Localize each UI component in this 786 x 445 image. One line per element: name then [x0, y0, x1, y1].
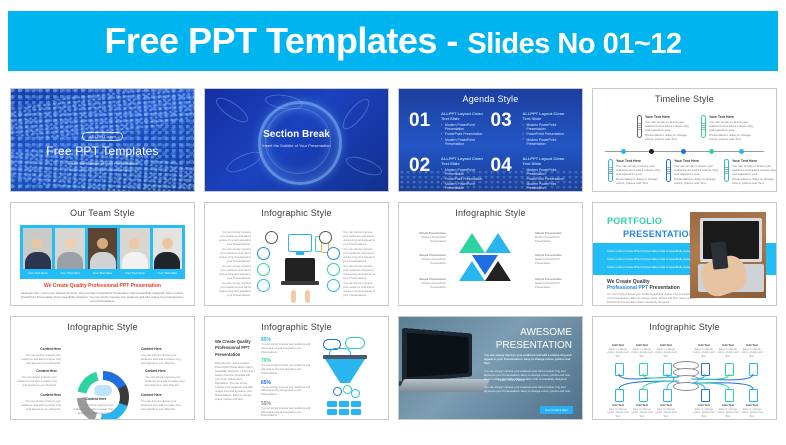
slide-5-title: Our Team Style	[11, 203, 194, 218]
timeline-card: Your Text HereYou can simply impress you…	[608, 159, 660, 185]
database-label: Add TextEasy to change colors, photos an…	[716, 403, 740, 419]
funnel-top-bar	[323, 355, 367, 359]
slide-thumbnail-2-section-break[interactable]: Section Break Insert the Subtitle of You…	[204, 88, 389, 192]
database-label-body: Easy to change colors, photos and Text.	[655, 408, 676, 419]
stat-body: You can simply impress your audience and…	[261, 407, 311, 418]
agenda-item: 01 ALLPPT Layout Clean Text Slide Modern…	[409, 111, 491, 147]
agenda-number: 03	[491, 111, 519, 147]
triangle-label-body: Modern PowerPoint Presentation	[535, 235, 560, 243]
timeline-card-heading: Your Text Here	[674, 159, 718, 163]
triangle-shape	[485, 233, 511, 253]
team-member: Your Text Here	[55, 228, 84, 276]
slide-thumbnail-3-agenda[interactable]: Agenda Style 01 ALLPPT Layout Clean Text…	[398, 88, 583, 192]
agenda-bullet: PowerPoint Presentation	[441, 177, 491, 181]
slide-11-heading-line-1: AWESOME	[520, 327, 572, 338]
server-icon	[339, 409, 349, 415]
banner-title: Free PPT Templates - Slides No 01~12	[104, 23, 681, 59]
donut-label: Content Here You can simply impress your…	[21, 393, 61, 411]
slide-thumbnail-7-infographic-triangles[interactable]: Infographic Style Simple Presentation Mo…	[398, 202, 583, 306]
target-icon	[327, 263, 340, 276]
agenda-bullet: Modern PowerPoint Presentation	[441, 182, 491, 190]
database-label-heading: Add Text	[716, 343, 740, 347]
agenda-bullet: Modern PowerPoint Presentation	[441, 168, 491, 176]
team-member-photo	[55, 228, 84, 269]
donut-center-label: Content Here You can simply impress your…	[73, 397, 119, 415]
device-side-text: You can simply impress your audience and…	[343, 230, 377, 246]
triangle-shape	[459, 261, 485, 281]
donut-label: Content Here You can simply impress your…	[21, 347, 61, 365]
donut-center-body: You can simply impress your audience and…	[73, 403, 118, 415]
agenda-item: 04 ALLPPT Layout Clean Text Slide Modern…	[491, 156, 573, 192]
stat-row: 70% You can simply impress your audience…	[261, 358, 311, 375]
timeline-pill-icon	[724, 159, 729, 182]
database-label: Add TextEasy to change colors, photos an…	[692, 403, 716, 419]
timeline-card-heading: Your Text Here	[616, 159, 660, 163]
database-label-heading: Add Text	[692, 343, 716, 347]
database-label: Add TextEasy to change colors, photos an…	[606, 403, 630, 419]
gear-icon	[351, 389, 360, 398]
agenda-number: 01	[409, 111, 437, 147]
strand-decoration	[212, 93, 251, 126]
donut-label-body: You can simply impress your audience and…	[17, 375, 57, 387]
funnel-left-body: Example text : Get a modern PowerPoint P…	[215, 362, 255, 402]
timeline-marker	[649, 149, 654, 154]
database-label-heading: Add Text	[606, 403, 630, 407]
slide-11-cta-button[interactable]: Your Content Here	[540, 406, 573, 414]
slide-2-subtitle: Insert the Subtitle of Your Presentation	[205, 143, 388, 148]
slide-11-body-1: You can simply impress your audience and…	[484, 353, 572, 366]
database-label-heading: Add Text	[654, 403, 678, 407]
agenda-item: 02 ALLPPT Layout Clean Text Slide Modern…	[409, 156, 491, 192]
database-label-body: Easy to change colors, photos and Text.	[717, 348, 738, 359]
agenda-heading: ALLPPT Layout Clean Text Slide	[441, 156, 491, 166]
funnel-left-heading: We Create Quality Professional PPT Prese…	[215, 339, 255, 358]
slide-thumbnail-9-infographic-donut[interactable]: Infographic Style Content Here You can s…	[10, 316, 195, 420]
header-banner: Free PPT Templates - Slides No 01~12	[8, 11, 778, 71]
database-label-body: Easy to change colors, photos and Text.	[607, 348, 628, 359]
timeline-marker	[709, 149, 714, 154]
ppt-template-preview-sheet: Free PPT Templates - Slides No 01~12 ALL…	[0, 0, 786, 445]
agenda-bullet: Modern PowerPoint Presentation	[523, 182, 573, 190]
database-label-heading: Add Text	[740, 343, 764, 347]
database-label-heading: Add Text	[630, 403, 654, 407]
funnel-left-column: We Create Quality Professional PPT Prese…	[215, 339, 255, 402]
slide-thumbnail-1-title[interactable]: ALLPPT.com Free PPT Templates Insert the…	[10, 88, 195, 192]
agenda-bullet: PowerPoint Presentation	[441, 132, 491, 136]
agenda-heading: ALLPPT Layout Clean Text Slide	[441, 111, 491, 121]
laptop-base	[398, 379, 490, 392]
device-side-text: You can simply impress your audience and…	[343, 264, 377, 280]
team-footer: We Create Quality Professional PPT Prese…	[21, 283, 184, 303]
funnel-stats-column: 85% You can simply impress your audience…	[261, 337, 311, 420]
slide-1-title: Free PPT Templates	[11, 144, 194, 158]
timeline-pill-icon	[637, 115, 642, 138]
agenda-bullet: Modern PowerPoint Presentation	[523, 123, 573, 131]
team-member-photo	[88, 228, 117, 269]
database-label-heading: Add Text	[692, 403, 716, 407]
agenda-bullet: PowerPoint Presentation	[523, 177, 573, 181]
agenda-bullet: Modern PowerPoint Presentation	[441, 123, 491, 131]
megaphone-icon	[257, 247, 270, 260]
stat-row: 85% You can simply impress your audience…	[261, 337, 311, 354]
database-label: Add TextEasy to change colors, photos an…	[654, 403, 678, 419]
agenda-bullet: Modern PowerPoint Presentation	[441, 138, 491, 146]
triangle-label: Simple Presentation Modern PowerPoint Pr…	[535, 253, 571, 266]
slide-thumbnail-6-infographic-devices[interactable]: Infographic Style You can simply impress…	[204, 202, 389, 306]
server-icon	[351, 401, 361, 407]
database-label-body: Easy to change colors, photos and Text.	[717, 408, 738, 419]
donut-label-body: You can simply impress your audience and…	[21, 353, 61, 365]
donut-label-heading: Content Here	[21, 347, 61, 352]
slide-1-subtitle: Insert the Subtitle of Your Presentation	[11, 161, 194, 166]
hand-illustration	[291, 290, 296, 303]
timeline-card-body: You can simply impress your audience and…	[674, 164, 718, 185]
database-label: Add TextEasy to change colors, photos an…	[630, 343, 654, 359]
team-member: Your Text Here	[120, 228, 149, 276]
timeline-card: Your Text HereYou can simply impress you…	[724, 159, 776, 185]
slide-9-title: Infographic Style	[11, 317, 194, 332]
cloud-icon	[345, 337, 365, 349]
hand-illustration	[305, 290, 310, 303]
portfolio-band-line: Insert modern PowerPoint Presentation th…	[607, 249, 696, 253]
banner-title-separator: -	[437, 20, 468, 61]
slide-6-title: Infographic Style	[205, 203, 388, 218]
device-side-text: You can simply impress your audience and…	[217, 230, 251, 246]
slide-thumbnail-11-awesome-presentation[interactable]: AWESOME PRESENTATION You can simply impr…	[398, 316, 583, 420]
cloud-icon	[94, 385, 112, 396]
device-side-text: You can simply impress your audience and…	[343, 281, 377, 297]
portfolio-footer-line-2b: Presentation	[648, 285, 680, 291]
stat-body: You can simply impress your audience and…	[261, 343, 311, 354]
timeline-card-heading: Your Text Here	[645, 115, 689, 119]
agenda-heading: ALLPPT Layout Clean Text Slide	[523, 111, 573, 121]
donut-label-heading: Content Here	[17, 369, 57, 374]
portfolio-photo	[690, 212, 766, 298]
team-member-caption: Your Text Here	[120, 269, 149, 276]
slide-11-heading-line-2: PRESENTATION	[496, 340, 572, 351]
team-member-caption: Your Text Here	[88, 269, 117, 276]
database-label-body: Easy to change colors, photos and Text.	[631, 348, 652, 359]
database-label-heading: Add Text	[606, 343, 630, 347]
team-member: Your Text Here	[88, 228, 117, 276]
portfolio-band-line: Insert modern PowerPoint Presentation th…	[607, 265, 696, 269]
timeline-pill-icon	[701, 115, 706, 138]
stat-row: 55% You can simply impress your audience…	[261, 401, 311, 418]
donut-label-body: You can simply impress your audience and…	[141, 399, 181, 411]
database-label: Add TextEasy to change colors, photos an…	[630, 403, 654, 419]
database-label-body: Easy to change colors, photos and Text.	[693, 348, 714, 359]
timeline-card: Your Text HereYou can simply impress you…	[666, 159, 718, 185]
database-label: Add TextEasy to change colors, photos an…	[692, 343, 716, 359]
slide-thumbnail-5-our-team[interactable]: Our Team Style Your Text Here Your Text …	[10, 202, 195, 306]
timeline-card-heading: Your Text Here	[732, 159, 776, 163]
slide-3-title: Agenda Style	[399, 89, 582, 104]
database-label: Add TextEasy to change colors, photos an…	[740, 343, 764, 359]
donut-label: Content Here You can simply impress your…	[17, 369, 57, 387]
database-label-heading: Add Text	[630, 343, 654, 347]
donut-label-heading: Content Here	[141, 393, 181, 398]
device-side-text: You can simply impress your audience and…	[217, 264, 251, 280]
database-label: Add TextEasy to change colors, photos an…	[654, 343, 678, 359]
gear-icon	[333, 387, 342, 396]
donut-label-heading: Content Here	[21, 393, 61, 398]
portfolio-heading-1: PORTFOLIO	[607, 216, 662, 226]
monitor-icon	[288, 234, 312, 252]
portfolio-footer: We Create Quality Professional PPT Prese…	[607, 279, 699, 305]
laptop-illustration	[402, 328, 472, 382]
donut-label-heading: Content Here	[145, 369, 185, 374]
donut-label-body: You can simply impress your audience and…	[21, 399, 61, 411]
slide-11-heading: AWESOME PRESENTATION	[496, 327, 572, 352]
agenda-item: 03 ALLPPT Layout Clean Text Slide Modern…	[491, 111, 573, 147]
slide-11-sub-body: You can simply impress your audience and…	[484, 385, 572, 393]
slide-thumbnail-10-infographic-funnel[interactable]: Infographic Style We Create Quality Prof…	[204, 316, 389, 420]
slide-thumbnail-grid: ALLPPT.com Free PPT Templates Insert the…	[8, 86, 778, 438]
agenda-number: 04	[491, 156, 519, 192]
team-member-caption: Your Text Here	[55, 269, 84, 276]
timeline-pill-icon	[666, 159, 671, 182]
triangle-shape	[459, 233, 485, 253]
server-icon	[327, 401, 337, 407]
slide-2-title: Section Break	[205, 129, 388, 140]
database-label: Add TextEasy to change colors, photos an…	[716, 343, 740, 359]
agenda-bullet: PowerPoint Presentation	[523, 132, 573, 136]
timeline-marker	[621, 149, 626, 154]
donut-center-heading: Content Here	[73, 397, 119, 402]
timeline-pill-icon	[608, 159, 613, 182]
funnel-shape	[325, 359, 365, 383]
briefcase-icon	[327, 279, 340, 292]
database-label: Add TextEasy to change colors, photos an…	[740, 403, 764, 419]
team-member-caption: Your Text Here	[23, 269, 52, 276]
slide-7-title: Infographic Style	[399, 203, 582, 218]
agenda-heading: ALLPPT Layout Clean Text Slide	[523, 156, 573, 166]
device-side-text: You can simply impress your audience and…	[217, 247, 251, 263]
triangle-label: Simple Presentation Modern PowerPoint Pr…	[535, 231, 571, 244]
server-icon	[339, 401, 349, 407]
database-label-body: Easy to change colors, photos and Text.	[693, 408, 714, 419]
portfolio-footer-line-2: Professional PPT Presentation	[607, 285, 699, 291]
smartphone-illustration	[711, 241, 729, 269]
server-icon	[327, 409, 337, 415]
strand-decoration	[344, 153, 384, 179]
database-label-heading: Add Text	[740, 403, 764, 407]
briefcase-icon	[257, 279, 270, 292]
stat-body: You can simply impress your audience and…	[261, 364, 311, 375]
banner-title-main: Free PPT Templates	[104, 20, 436, 61]
database-label-heading: Add Text	[654, 343, 678, 347]
team-member-photo	[120, 228, 149, 269]
triangle-label: Simple Presentation Modern PowerPoint Pr…	[535, 277, 571, 290]
agenda-number: 02	[409, 156, 437, 192]
team-footer-body: Example Text : Insert your desired text …	[21, 291, 184, 303]
team-footer-heading: We Create Quality Professional PPT Prese…	[21, 283, 184, 289]
allppt-logo: ALLPPT.com	[82, 132, 123, 141]
triangle-label-body: Modern PowerPoint Presentation	[421, 257, 446, 265]
database-label-body: Easy to change colors, photos and Text.	[741, 348, 762, 359]
laptop-illustration	[285, 258, 315, 282]
triangle-label-body: Modern PowerPoint Presentation	[421, 235, 446, 243]
donut-label-heading: Content Here	[141, 347, 181, 352]
laptop-screen	[407, 333, 469, 378]
message-icon	[265, 231, 278, 244]
team-member-photo	[23, 228, 52, 269]
team-member-photo	[153, 228, 182, 269]
database-label-body: Easy to change colors, photos and Text.	[741, 408, 762, 419]
slide-4-title: Timeline Style	[593, 89, 776, 104]
server-icon	[351, 409, 361, 415]
slide-10-title: Infographic Style	[205, 317, 388, 332]
donut-label-body: You can simply impress your audience and…	[145, 375, 185, 387]
triangle-shape	[485, 261, 511, 281]
portfolio-footer-line-2a: Professional PPT	[607, 285, 648, 291]
timeline-card-body: You can simply impress your audience and…	[709, 120, 753, 141]
donut-label-body: You can simply impress your audience and…	[141, 353, 181, 365]
target-icon	[257, 263, 270, 276]
timeline-marker	[739, 149, 744, 154]
portfolio-heading-2: PRESENTATION	[623, 229, 696, 239]
device-side-text: You can simply impress your audience and…	[217, 281, 251, 297]
timeline-card-heading: Your Text Here	[709, 115, 753, 119]
triangle-label: Simple Presentation Modern PowerPoint Pr…	[410, 231, 446, 244]
stat-row: 65% You can simply impress your audience…	[261, 380, 311, 397]
slide-11-sub-heading: Your Text Here	[497, 377, 525, 382]
timeline-marker	[681, 149, 686, 154]
slide-thumbnail-4-timeline[interactable]: Timeline Style Your Text HereYou can sim…	[592, 88, 777, 192]
stat-body: You can simply impress your audience and…	[261, 386, 311, 397]
banner-title-sub: Slides No 01~12	[467, 28, 681, 60]
team-member-caption: Your Text Here	[153, 269, 182, 276]
database-label-body: Easy to change colors, photos and Text.	[655, 348, 676, 359]
triangle-label-body: Modern PowerPoint Presentation	[535, 281, 560, 289]
timeline-card-body: You can simply impress your audience and…	[732, 164, 776, 185]
slide-1-content: ALLPPT.com Free PPT Templates Insert the…	[11, 125, 194, 172]
slide-thumbnail-8-portfolio[interactable]: PORTFOLIO PRESENTATION Insert modern Pow…	[592, 202, 777, 306]
megaphone-icon	[327, 247, 340, 260]
message-icon	[319, 231, 332, 244]
agenda-bullet: Modern PowerPoint Presentation	[523, 168, 573, 176]
team-member: Your Text Here	[23, 228, 52, 276]
triangle-label-body: Modern PowerPoint Presentation	[421, 281, 446, 289]
timeline-card: Your Text HereYou can simply impress you…	[637, 115, 689, 141]
slide-thumbnail-12-infographic-database[interactable]: Infographic Style	[592, 316, 777, 420]
agenda-items: 01 ALLPPT Layout Clean Text Slide Modern…	[409, 111, 572, 192]
agenda-bullet: Modern PowerPoint Presentation	[523, 138, 573, 146]
slide-2-content: Section Break Insert the Subtitle of You…	[205, 129, 388, 148]
triangle-label-body: Modern PowerPoint Presentation	[535, 257, 560, 265]
strand-decoration	[338, 95, 373, 133]
triangle-label: Simple Presentation Modern PowerPoint Pr…	[410, 253, 446, 266]
database-label-heading: Add Text	[716, 403, 740, 407]
database-label: Add TextEasy to change colors, photos an…	[606, 343, 630, 359]
database-label-body: Easy to change colors, photos and Text.	[607, 408, 628, 419]
team-photo-band: Your Text Here Your Text Here Your Text …	[20, 225, 185, 279]
triangle-label: Simple Presentation Modern PowerPoint Pr…	[410, 277, 446, 290]
donut-label: Content Here You can simply impress your…	[141, 393, 181, 411]
timeline-card: Your Text HereYou can simply impress you…	[701, 115, 753, 141]
portfolio-band-line: Insert modern PowerPoint Presentation th…	[607, 257, 696, 261]
donut-label: Content Here You can simply impress your…	[141, 347, 181, 365]
team-member: Your Text Here	[153, 228, 182, 276]
timeline-card-body: You can simply impress your audience and…	[645, 120, 689, 141]
donut-label: Content Here You can simply impress your…	[145, 369, 185, 387]
device-side-text: You can simply impress your audience and…	[343, 247, 377, 263]
database-label-body: Easy to change colors, photos and Text.	[631, 408, 652, 419]
portfolio-footer-body: You can simply impress your audience and…	[607, 293, 699, 305]
slide-1-url: http://www.free-powerpoint-templates-des…	[11, 168, 194, 172]
timeline-card-body: You can simply impress your audience and…	[616, 164, 660, 185]
